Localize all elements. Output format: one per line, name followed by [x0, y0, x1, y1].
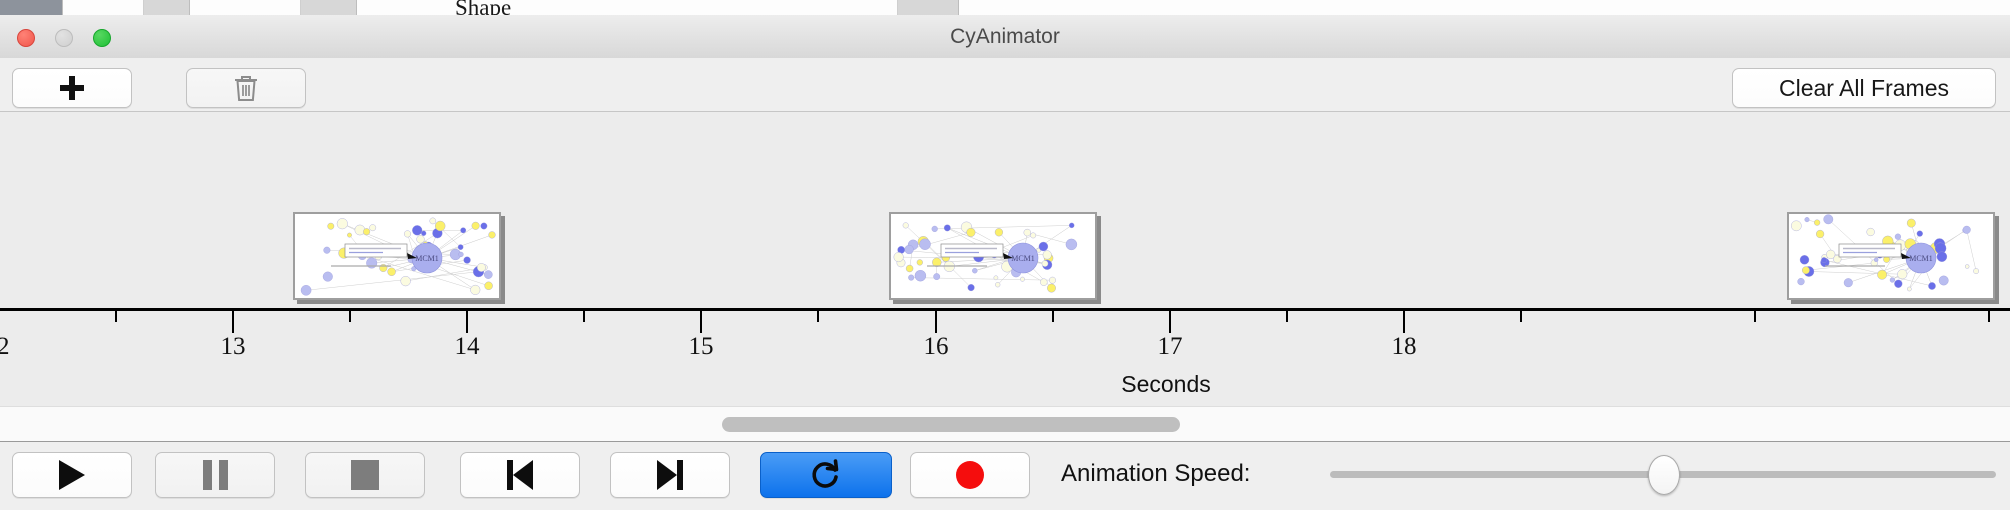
timeline-scrollbar-thumb[interactable] [722, 417, 1180, 432]
animation-speed-label: Animation Speed: [1061, 452, 1250, 496]
svg-text:MCM1: MCM1 [1909, 254, 1933, 263]
timeline-scrollbar[interactable] [0, 406, 2010, 443]
background-panel-d [301, 0, 357, 15]
timeline-tick-minor [115, 311, 117, 322]
frame-network-image: MCM1 [293, 212, 501, 300]
timeline-tick-label: 15 [689, 333, 714, 361]
frame-network-image: MCM1 [1787, 212, 1995, 300]
frame-network-image: MCM1 [889, 212, 1097, 300]
pause-icon [203, 460, 228, 490]
stop-button[interactable] [305, 452, 425, 498]
background-panel-c [190, 0, 301, 15]
timeline-tick-label: 14 [455, 333, 480, 361]
timeline-tick-major [935, 311, 937, 333]
svg-text:MCM1: MCM1 [415, 254, 439, 263]
background-window-strip: Shape [0, 0, 2010, 16]
timeline-tick-label: 13 [221, 333, 246, 361]
close-button[interactable] [17, 29, 35, 47]
timeline-tick-minor [583, 311, 585, 322]
background-panel-e [357, 0, 898, 15]
svg-text:MCM1: MCM1 [1011, 254, 1035, 263]
timeline-tick-major [1169, 311, 1171, 333]
cyanimator-window: Shape CyAnimator Clear All Frames 121314… [0, 0, 2010, 510]
timeline-frame-thumbnail[interactable]: MCM1 [293, 212, 501, 300]
timeline-axis-title: Seconds [1121, 371, 1211, 398]
timeline-tick-label: 17 [1158, 333, 1183, 361]
skip-back-icon [507, 460, 533, 490]
stop-icon [351, 460, 379, 490]
timeline-tick-minor [1286, 311, 1288, 322]
background-tab-selected [0, 0, 63, 15]
zoom-button[interactable] [93, 29, 111, 47]
title-bar: CyAnimator [0, 15, 2010, 59]
timeline-tick-label: 18 [1392, 333, 1417, 361]
play-icon [59, 460, 85, 490]
background-panel-f [898, 0, 959, 15]
timeline-tick-major [232, 311, 234, 333]
loop-icon [809, 458, 843, 492]
background-panel-a [63, 0, 144, 15]
timeline-tick-major [1403, 311, 1405, 333]
delete-frame-button[interactable] [186, 68, 306, 108]
trash-icon [232, 73, 260, 103]
add-frame-button[interactable] [12, 68, 132, 108]
skip-forward-icon [657, 460, 683, 490]
clear-all-frames-button[interactable]: Clear All Frames [1732, 68, 1996, 108]
page-title: CyAnimator [0, 15, 2010, 58]
plus-icon [59, 75, 85, 101]
timeline-tick-label: 16 [924, 333, 949, 361]
timeline-tick-label: 12 [0, 333, 10, 361]
pause-button[interactable] [155, 452, 275, 498]
skip-forward-button[interactable] [610, 452, 730, 498]
record-button[interactable] [910, 452, 1030, 498]
animation-speed-slider-thumb[interactable] [1648, 455, 1680, 495]
timeline-tick-major [700, 311, 702, 333]
toolbar: Clear All Frames [0, 58, 2010, 112]
minimize-button[interactable] [55, 29, 73, 47]
loop-button[interactable] [760, 452, 892, 498]
timeline-axis[interactable]: 12131415161718Seconds [0, 311, 2010, 406]
playback-control-bar: Animation Speed: [0, 442, 2010, 510]
timeline-tick-minor [1754, 311, 1756, 322]
skip-back-button[interactable] [460, 452, 580, 498]
timeline-frame-thumbnail[interactable]: MCM1 [1787, 212, 1995, 300]
play-button[interactable] [12, 452, 132, 498]
timeline-tick-minor [817, 311, 819, 322]
timeline-tick-minor [349, 311, 351, 322]
background-window-label: Shape [455, 1, 511, 15]
timeline-tick-minor [1988, 311, 1990, 322]
timeline-tick-minor [1520, 311, 1522, 322]
timeline-tick-major [466, 311, 468, 333]
background-panel-b [144, 0, 190, 15]
timeline-frame-thumbnail[interactable]: MCM1 [889, 212, 1097, 300]
timeline-tick-minor [1052, 311, 1054, 322]
background-panel-g [959, 0, 2010, 15]
record-icon [956, 461, 984, 489]
clear-all-frames-label: Clear All Frames [1779, 75, 1949, 102]
